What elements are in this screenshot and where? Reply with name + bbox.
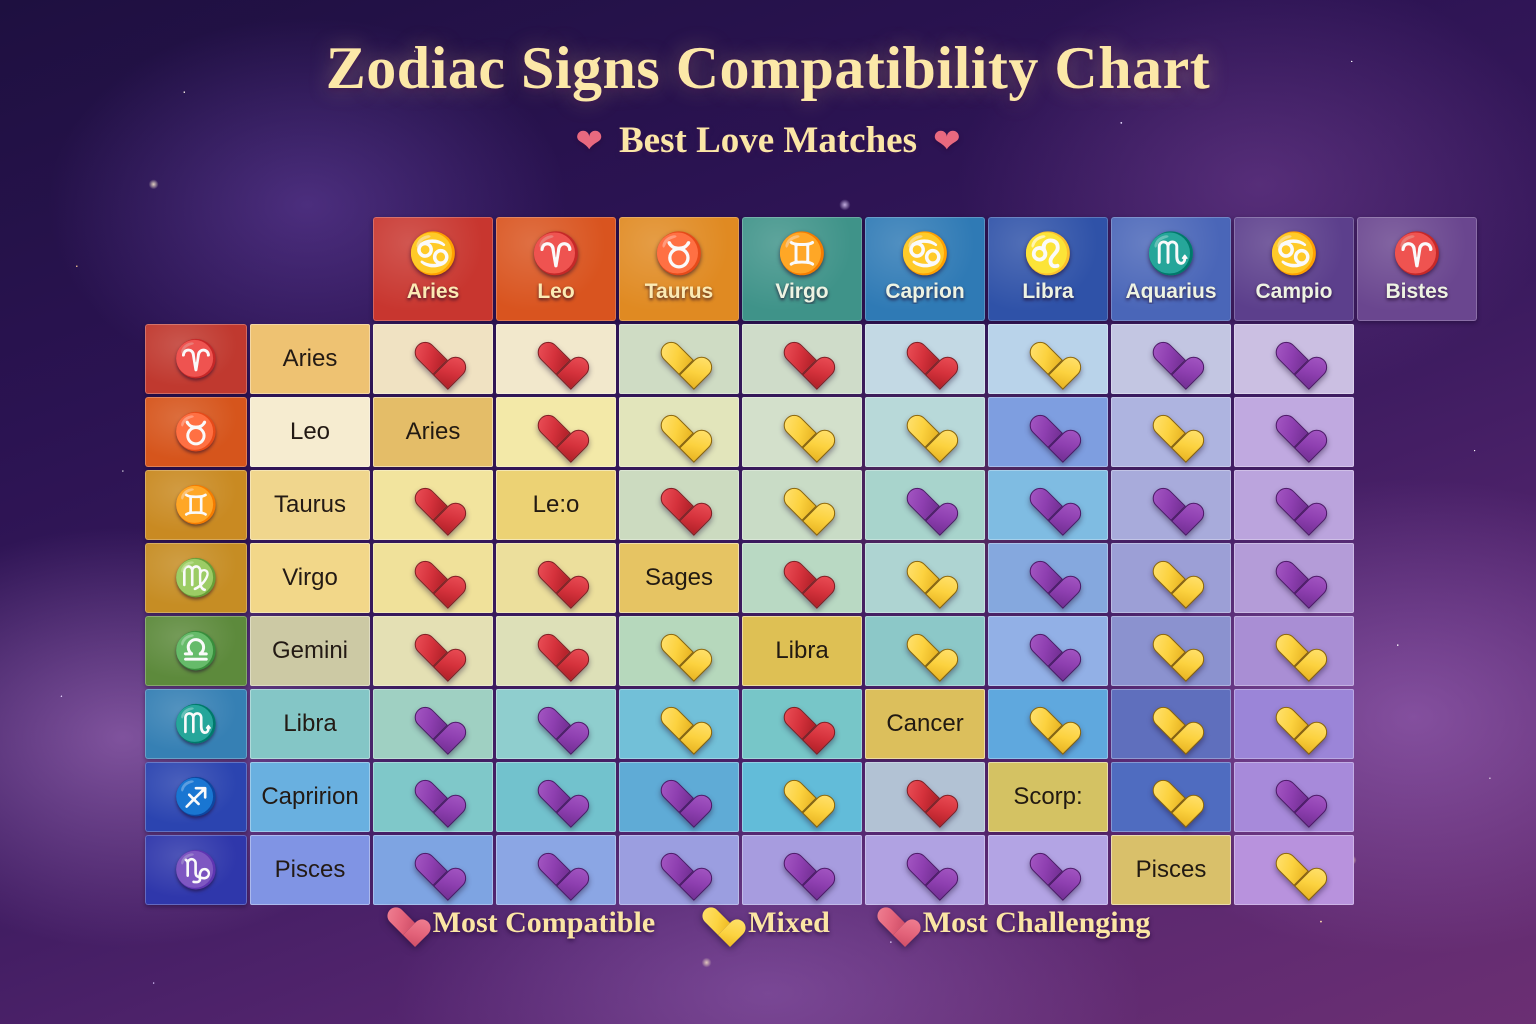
- matrix-cell-purple-heart[interactable]: [1234, 543, 1354, 613]
- zodiac-glyph-icon: ♍: [174, 557, 219, 598]
- matrix-cell-purple-heart[interactable]: [1111, 470, 1231, 540]
- column-header-virgo[interactable]: ♊Virgo: [742, 217, 862, 321]
- heart-icon: [414, 487, 452, 523]
- heart-icon: [783, 706, 821, 742]
- table-row: ♊TaurusLe:o: [145, 470, 1477, 540]
- matrix-cell-purple-heart[interactable]: [742, 835, 862, 905]
- heart-icon: [1029, 852, 1067, 888]
- matrix-cell-yellow-heart[interactable]: [988, 689, 1108, 759]
- heart-icon: [660, 852, 698, 888]
- heart-icon: [414, 852, 452, 888]
- table-row: ♎GeminiLibra: [145, 616, 1477, 686]
- heart-icon: [660, 414, 698, 450]
- matrix-cell-purple-heart[interactable]: [865, 835, 985, 905]
- matrix-cell-purple-heart[interactable]: [1234, 397, 1354, 467]
- matrix-cell-purple-heart[interactable]: [619, 835, 739, 905]
- matrix-cell-purple-heart[interactable]: [988, 397, 1108, 467]
- row-icon-gemini: ♎: [145, 616, 247, 686]
- column-header-label: Bistes: [1357, 280, 1477, 304]
- heart-icon: [660, 706, 698, 742]
- heart-icon: [1029, 341, 1067, 377]
- column-header-label: Taurus: [619, 280, 739, 304]
- matrix-cell-label[interactable]: Le:o: [496, 470, 616, 540]
- matrix-cell-yellow-heart[interactable]: [865, 397, 985, 467]
- heart-icon: [906, 633, 944, 669]
- matrix-cell-yellow-heart[interactable]: [1111, 543, 1231, 613]
- legend-label: Most Compatible: [433, 906, 655, 940]
- matrix-cell-purple-heart[interactable]: [1234, 762, 1354, 832]
- matrix-cell-label[interactable]: Sages: [619, 543, 739, 613]
- table-row: ♐CapririonScorp:: [145, 762, 1477, 832]
- zodiac-glyph-icon: ♌: [988, 234, 1108, 274]
- matrix-cell-red-heart[interactable]: [373, 616, 493, 686]
- matrix-cell-yellow-heart[interactable]: [742, 470, 862, 540]
- column-header-aries[interactable]: ♋Aries: [373, 217, 493, 321]
- heart-icon: [660, 779, 698, 815]
- row-header-leo[interactable]: Leo: [250, 397, 370, 467]
- matrix-cell-red-heart[interactable]: [373, 324, 493, 394]
- matrix-cell-label[interactable]: Scorp:: [988, 762, 1108, 832]
- compatibility-matrix: ♋Aries♈Leo♉Taurus♊Virgo♋Caprion♌Libra♏Aq…: [142, 214, 1324, 880]
- table-header: ♋Aries♈Leo♉Taurus♊Virgo♋Caprion♌Libra♏Aq…: [145, 217, 1477, 321]
- row-icon-capririon: ♐: [145, 762, 247, 832]
- zodiac-glyph-icon: ♎: [174, 630, 219, 671]
- matrix-cell-purple-heart[interactable]: [496, 762, 616, 832]
- matrix-cell-yellow-heart[interactable]: [619, 397, 739, 467]
- zodiac-glyph-icon: ♊: [174, 484, 219, 525]
- matrix-cell-purple-heart[interactable]: [373, 689, 493, 759]
- heart-icon-left: ❤: [575, 124, 603, 157]
- matrix-cell-yellow-heart[interactable]: [1111, 616, 1231, 686]
- heart-icon: [1152, 633, 1190, 669]
- matrix-cell-purple-heart[interactable]: [373, 835, 493, 905]
- heart-icon: [414, 633, 452, 669]
- matrix-cell-yellow-heart[interactable]: [1234, 835, 1354, 905]
- heart-icon: [783, 779, 821, 815]
- legend: Most CompatibleMixedMost Challenging: [0, 906, 1536, 940]
- matrix-cell-yellow-heart[interactable]: [619, 616, 739, 686]
- legend-item: Mixed: [701, 906, 830, 940]
- zodiac-glyph-icon: ♐: [174, 776, 219, 817]
- zodiac-glyph-icon: ♉: [619, 234, 739, 274]
- heart-icon: [537, 633, 575, 669]
- column-header-label: Campio: [1234, 280, 1354, 304]
- zodiac-glyph-icon: ♋: [373, 234, 493, 274]
- legend-label: Most Challenging: [923, 906, 1151, 940]
- subtitle-row: ❤ Best Love Matches ❤: [0, 119, 1536, 162]
- matrix-cell-red-heart[interactable]: [742, 324, 862, 394]
- zodiac-glyph-icon: ♊: [742, 234, 862, 274]
- heart-icon: [537, 779, 575, 815]
- matrix-cell-label[interactable]: Cancer: [865, 689, 985, 759]
- row-icon-libra: ♏: [145, 689, 247, 759]
- heart-icon: [1275, 487, 1313, 523]
- table-row: ♏LibraCancer: [145, 689, 1477, 759]
- matrix-cell-red-heart[interactable]: [496, 616, 616, 686]
- column-header-leo[interactable]: ♈Leo: [496, 217, 616, 321]
- legend-heart-icon: [876, 907, 910, 939]
- heart-icon: [1275, 560, 1313, 596]
- heart-icon: [906, 487, 944, 523]
- legend-item: Most Compatible: [386, 906, 655, 940]
- row-header-taurus[interactable]: Taurus: [250, 470, 370, 540]
- heart-icon: [660, 487, 698, 523]
- column-header-label: Leo: [496, 280, 616, 304]
- row-header-aries[interactable]: Aries: [250, 324, 370, 394]
- heart-icon: [1275, 852, 1313, 888]
- heart-icon: [1275, 706, 1313, 742]
- heart-icon: [1275, 633, 1313, 669]
- heart-icon: [783, 414, 821, 450]
- column-header-campio[interactable]: ♋Campio: [1234, 217, 1354, 321]
- matrix-cell-purple-heart[interactable]: [373, 762, 493, 832]
- zodiac-glyph-icon: ♏: [1111, 234, 1231, 274]
- heart-icon: [414, 779, 452, 815]
- heart-icon: [906, 341, 944, 377]
- column-header-label: Aries: [373, 280, 493, 304]
- matrix-cell-red-heart[interactable]: [742, 543, 862, 613]
- column-header-label: Aquarius: [1111, 280, 1231, 304]
- legend-heart-icon: [701, 907, 735, 939]
- table-body: ♈Aries♉LeoAries♊TaurusLe:o♍VirgoSages♎Ge…: [145, 324, 1477, 905]
- zodiac-glyph-icon: ♑: [174, 849, 219, 890]
- table-row: ♍VirgoSages: [145, 543, 1477, 613]
- matrix-cell-purple-heart[interactable]: [988, 470, 1108, 540]
- matrix-cell-yellow-heart[interactable]: [1234, 689, 1354, 759]
- heart-icon: [1029, 633, 1067, 669]
- row-icon-leo: ♉: [145, 397, 247, 467]
- matrix-cell-red-heart[interactable]: [373, 543, 493, 613]
- heart-icon: [537, 852, 575, 888]
- matrix-cell-red-heart[interactable]: [619, 470, 739, 540]
- matrix-cell-purple-heart[interactable]: [865, 470, 985, 540]
- heart-icon: [1152, 779, 1190, 815]
- column-header-aquarius[interactable]: ♏Aquarius: [1111, 217, 1231, 321]
- zodiac-glyph-icon: ♈: [174, 338, 219, 379]
- matrix-cell-yellow-heart[interactable]: [619, 689, 739, 759]
- row-icon-aries: ♈: [145, 324, 247, 394]
- heart-icon: [414, 560, 452, 596]
- matrix-cell-red-heart[interactable]: [865, 762, 985, 832]
- heart-icon: [537, 560, 575, 596]
- matrix-cell-yellow-heart[interactable]: [619, 324, 739, 394]
- heart-icon: [1029, 414, 1067, 450]
- matrix-cell-red-heart[interactable]: [496, 397, 616, 467]
- zodiac-glyph-icon: ♈: [496, 234, 616, 274]
- heart-icon: [783, 341, 821, 377]
- row-icon-virgo: ♍: [145, 543, 247, 613]
- row-header-gemini[interactable]: Gemini: [250, 616, 370, 686]
- matrix-cell-purple-heart[interactable]: [988, 835, 1108, 905]
- matrix-cell-purple-heart[interactable]: [619, 762, 739, 832]
- matrix-cell-purple-heart[interactable]: [988, 543, 1108, 613]
- matrix-cell-red-heart[interactable]: [865, 324, 985, 394]
- corner-blank-icon: [145, 217, 247, 321]
- legend-heart-icon: [386, 907, 420, 939]
- heart-icon: [660, 341, 698, 377]
- matrix-cell-yellow-heart[interactable]: [865, 616, 985, 686]
- heart-icon: [1275, 341, 1313, 377]
- heart-icon: [1275, 779, 1313, 815]
- table-row: ♈Aries: [145, 324, 1477, 394]
- matrix-cell-yellow-heart[interactable]: [742, 397, 862, 467]
- row-icon-taurus: ♊: [145, 470, 247, 540]
- page-title: Zodiac Signs Compatibility Chart: [0, 34, 1536, 103]
- row-header-pisces[interactable]: Pisces: [250, 835, 370, 905]
- matrix-cell-yellow-heart[interactable]: [1234, 616, 1354, 686]
- zodiac-glyph-icon: ♏: [174, 703, 219, 744]
- heart-icon: [660, 633, 698, 669]
- heart-icon: [906, 779, 944, 815]
- zodiac-glyph-icon: ♉: [174, 411, 219, 452]
- heart-icon: [1152, 341, 1190, 377]
- heart-icon-right: ❤: [933, 124, 961, 157]
- column-header-label: Libra: [988, 280, 1108, 304]
- matrix-cell-purple-heart[interactable]: [1234, 470, 1354, 540]
- heart-icon: [906, 560, 944, 596]
- matrix-cell-red-heart[interactable]: [496, 324, 616, 394]
- matrix-cell-red-heart[interactable]: [373, 470, 493, 540]
- column-header-row: ♋Aries♈Leo♉Taurus♊Virgo♋Caprion♌Libra♏Aq…: [145, 217, 1477, 321]
- corner-blank-name: [250, 217, 370, 321]
- matrix-cell-yellow-heart[interactable]: [865, 543, 985, 613]
- matrix-cell-purple-heart[interactable]: [496, 689, 616, 759]
- row-header-libra[interactable]: Libra: [250, 689, 370, 759]
- row-header-virgo[interactable]: Virgo: [250, 543, 370, 613]
- column-header-libra[interactable]: ♌Libra: [988, 217, 1108, 321]
- heart-icon: [1152, 706, 1190, 742]
- heart-icon: [906, 852, 944, 888]
- column-header-label: Caprion: [865, 280, 985, 304]
- heart-icon: [783, 487, 821, 523]
- matrix-cell-yellow-heart[interactable]: [1111, 397, 1231, 467]
- matrix-cell-yellow-heart[interactable]: [1111, 689, 1231, 759]
- heart-icon: [906, 414, 944, 450]
- table-row: ♑PiscesPisces: [145, 835, 1477, 905]
- heart-icon: [1152, 560, 1190, 596]
- column-header-caprion[interactable]: ♋Caprion: [865, 217, 985, 321]
- row-icon-pisces: ♑: [145, 835, 247, 905]
- table-row: ♉LeoAries: [145, 397, 1477, 467]
- heart-icon: [537, 414, 575, 450]
- matrix-cell-purple-heart[interactable]: [1111, 324, 1231, 394]
- page-subtitle: Best Love Matches: [619, 119, 917, 162]
- title-block: Zodiac Signs Compatibility Chart ❤ Best …: [0, 34, 1536, 162]
- column-header-bistes[interactable]: ♈Bistes: [1357, 217, 1477, 321]
- matrix-cell-purple-heart[interactable]: [1234, 324, 1354, 394]
- matrix-cell-purple-heart[interactable]: [988, 616, 1108, 686]
- matrix-cell-red-heart[interactable]: [496, 543, 616, 613]
- heart-icon: [1275, 414, 1313, 450]
- heart-icon: [414, 706, 452, 742]
- legend-item: Most Challenging: [876, 906, 1151, 940]
- row-header-capririon[interactable]: Capririon: [250, 762, 370, 832]
- matrix-cell-yellow-heart[interactable]: [988, 324, 1108, 394]
- zodiac-glyph-icon: ♋: [865, 234, 985, 274]
- column-header-taurus[interactable]: ♉Taurus: [619, 217, 739, 321]
- heart-icon: [537, 706, 575, 742]
- matrix-cell-purple-heart[interactable]: [496, 835, 616, 905]
- heart-icon: [783, 852, 821, 888]
- matrix-cell-label[interactable]: Pisces: [1111, 835, 1231, 905]
- matrix-cell-yellow-heart[interactable]: [742, 762, 862, 832]
- zodiac-glyph-icon: ♋: [1234, 234, 1354, 274]
- heart-icon: [1029, 560, 1067, 596]
- matrix-cell-yellow-heart[interactable]: [1111, 762, 1231, 832]
- zodiac-glyph-icon: ♈: [1357, 234, 1477, 274]
- column-header-label: Virgo: [742, 280, 862, 304]
- heart-icon: [1152, 487, 1190, 523]
- heart-icon: [1029, 706, 1067, 742]
- matrix-cell-label[interactable]: Aries: [373, 397, 493, 467]
- heart-icon: [1029, 487, 1067, 523]
- heart-icon: [537, 341, 575, 377]
- matrix-cell-red-heart[interactable]: [742, 689, 862, 759]
- heart-icon: [783, 560, 821, 596]
- legend-label: Mixed: [748, 906, 830, 940]
- matrix-cell-label[interactable]: Libra: [742, 616, 862, 686]
- heart-icon: [1152, 414, 1190, 450]
- heart-icon: [414, 341, 452, 377]
- compatibility-table: ♋Aries♈Leo♉Taurus♊Virgo♋Caprion♌Libra♏Aq…: [142, 214, 1480, 908]
